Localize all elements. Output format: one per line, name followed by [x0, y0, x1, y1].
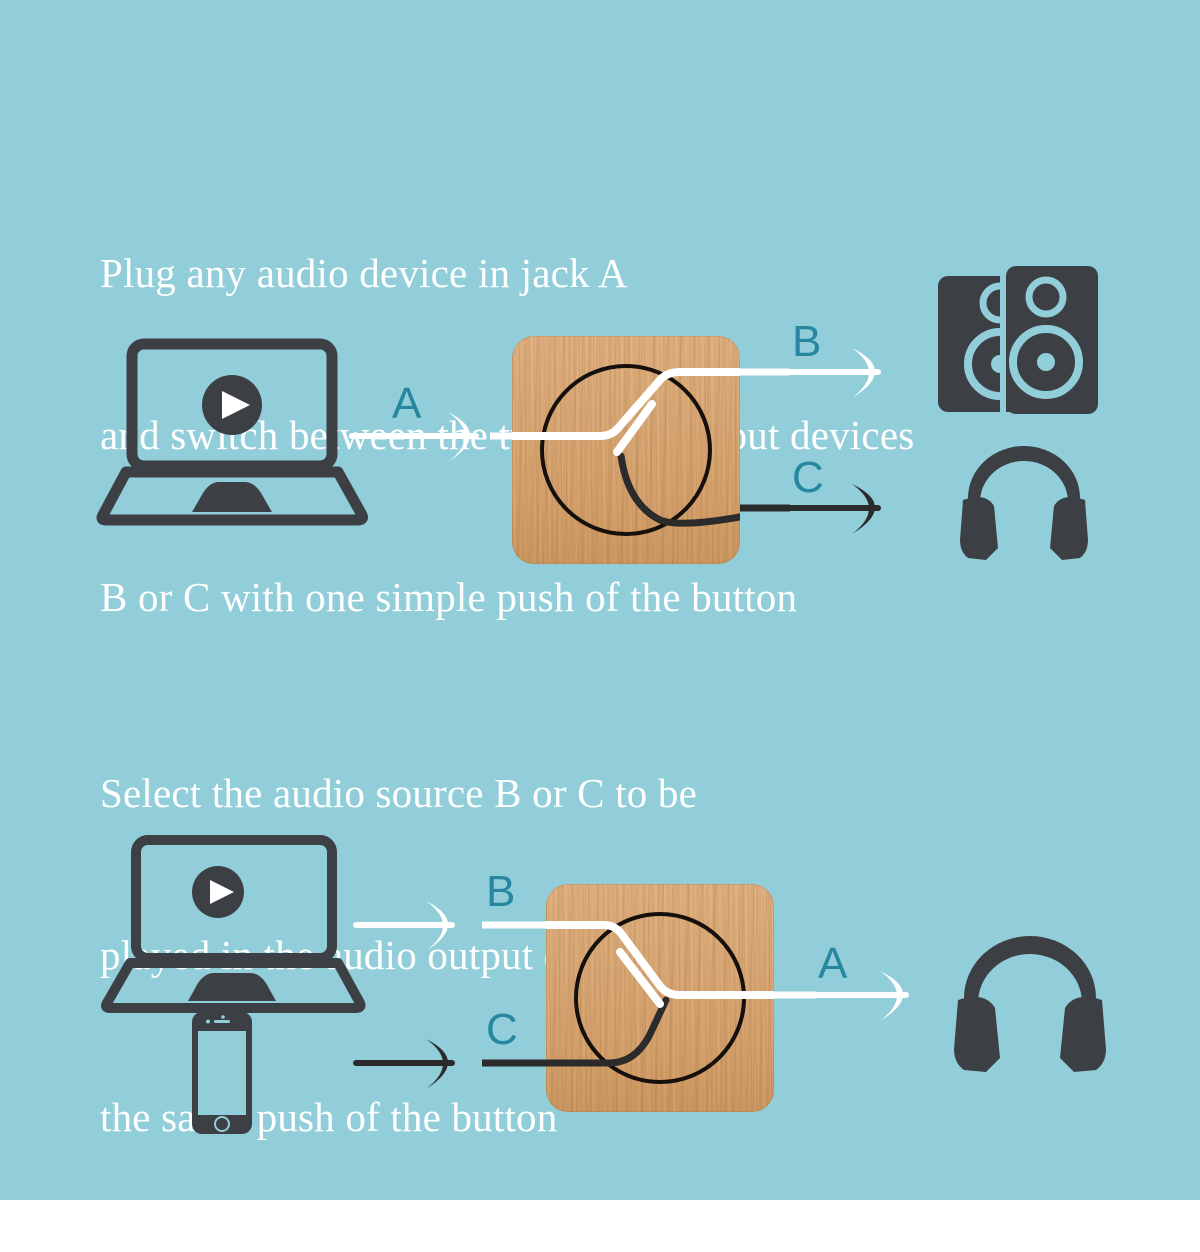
bottom-arrow-b [356, 901, 452, 951]
top-label-b: B [792, 317, 821, 366]
top-laptop-icon [102, 344, 363, 520]
bottom-label-b: B [486, 867, 515, 916]
bottom-label-c: C [486, 1005, 518, 1054]
graphics-layer: A B C [0, 0, 1200, 1200]
bottom-arrow-c [356, 1039, 452, 1089]
top-label-a: A [392, 379, 422, 428]
bottom-label-a: A [818, 939, 848, 988]
bottom-laptop-icon [106, 840, 361, 1008]
top-label-c: C [792, 453, 824, 502]
top-speakers-icon [938, 266, 1098, 418]
top-headphones-icon [960, 446, 1088, 560]
top-switch-dial-circle [542, 366, 710, 534]
infographic-canvas: Plug any audio device in jack A and swit… [0, 0, 1200, 1200]
bottom-switch-mechanism [540, 914, 786, 1082]
bottom-headphones-icon [954, 936, 1106, 1072]
top-switch-mechanism [505, 366, 760, 534]
bottom-smartphone-icon [192, 1012, 252, 1134]
bottom-dark-signal-path [540, 1000, 666, 1063]
